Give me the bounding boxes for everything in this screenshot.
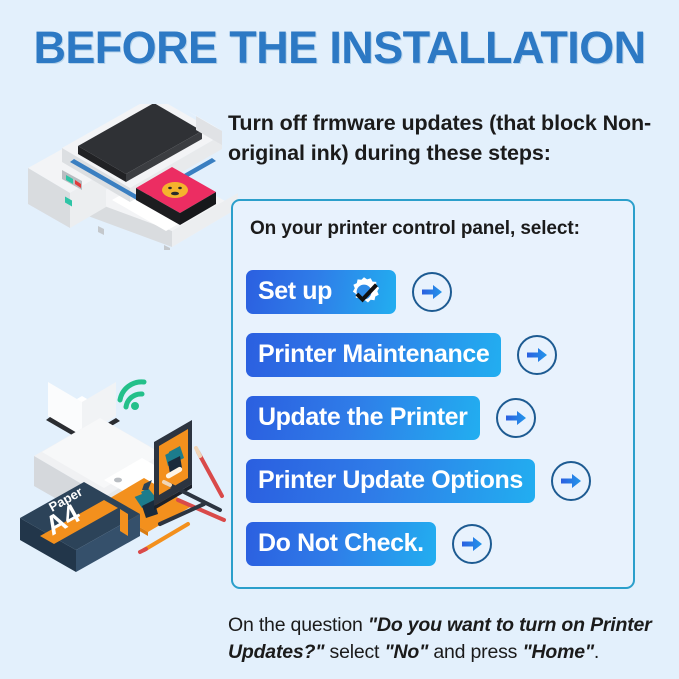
arrow-right-icon[interactable] [452, 524, 492, 564]
arrow-right-icon[interactable] [496, 398, 536, 438]
steps-panel: On your printer control panel, select: S… [231, 199, 635, 589]
step-button-printer-maintenance[interactable]: Printer Maintenance [246, 333, 501, 377]
step-label: Printer Update Options [258, 468, 523, 493]
arrow-right-icon[interactable] [551, 461, 591, 501]
footnote-part-3: and press [428, 641, 522, 663]
step-button-set-up[interactable]: Set up [246, 270, 396, 314]
footnote-quote-3: "Home" [522, 641, 593, 663]
footnote-part-1: On the question [228, 614, 368, 636]
arrow-right-icon[interactable] [517, 335, 557, 375]
step-button-update-the-printer[interactable]: Update the Printer [246, 396, 480, 440]
flatbed-dtg-printer-illustration [26, 104, 238, 250]
step-label: Set up [258, 279, 332, 304]
footnote-part-2: select [324, 641, 384, 663]
panel-heading: On your printer control panel, select: [250, 218, 580, 240]
step-row: Printer Maintenance [246, 328, 636, 381]
poster-root: BEFORE THE INSTALLATION Turn off frmware… [0, 0, 679, 679]
home-printer-wifi-illustration: Paper A4 [8, 360, 236, 588]
step-label: Printer Maintenance [258, 342, 489, 367]
gear-check-icon [346, 274, 382, 310]
step-row: Do Not Check. [246, 517, 636, 570]
step-row: Printer Update Options [246, 454, 636, 507]
page-title: BEFORE THE INSTALLATION [0, 22, 679, 74]
wifi-dot-icon [131, 402, 139, 410]
footnote-part-4: . [594, 641, 599, 663]
step-button-printer-update-options[interactable]: Printer Update Options [246, 459, 535, 503]
arrow-right-icon[interactable] [412, 272, 452, 312]
steps-list: Set up [246, 265, 636, 570]
footnote-quote-2: "No" [384, 641, 428, 663]
wifi-icon [120, 382, 144, 407]
step-button-do-not-check[interactable]: Do Not Check. [246, 522, 436, 566]
step-label: Do Not Check. [258, 531, 424, 556]
footnote-text: On the question "Do you want to turn on … [228, 612, 658, 666]
step-label: Update the Printer [258, 405, 468, 430]
step-row: Update the Printer [246, 391, 636, 444]
tablet-device [154, 420, 192, 510]
subtitle-text: Turn off frmware updates (that block Non… [228, 108, 653, 168]
step-row: Set up [246, 265, 636, 318]
